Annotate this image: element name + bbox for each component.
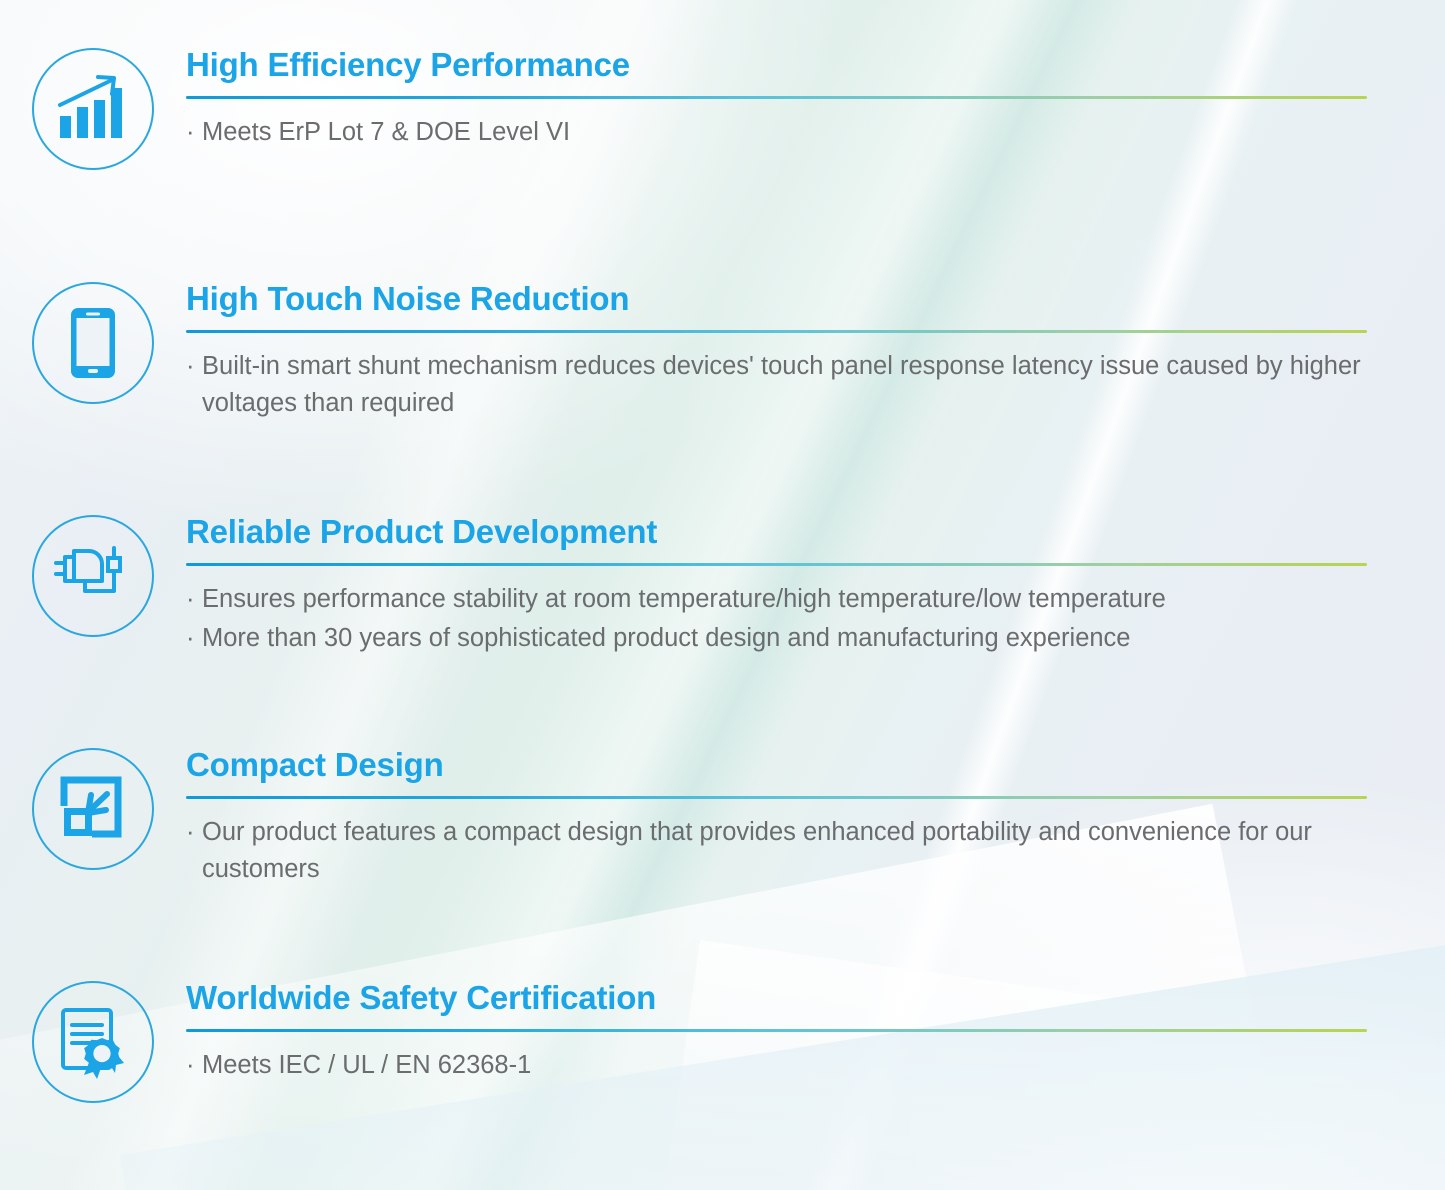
feature-item: High Efficiency Performance · Meets ErP … — [0, 46, 1445, 170]
bullet-text: Meets ErP Lot 7 & DOE Level VI — [202, 114, 1367, 151]
feature-divider — [186, 1029, 1367, 1032]
feature-title: High Touch Noise Reduction — [186, 280, 1367, 318]
power-adapter-icon — [32, 515, 154, 637]
feature-divider — [186, 563, 1367, 566]
feature-bullet: · Built-in smart shunt mechanism reduces… — [186, 348, 1367, 422]
bullet-marker: · — [186, 348, 202, 385]
feature-icon-wrap — [0, 979, 186, 1103]
bullet-marker: · — [186, 581, 202, 618]
feature-item: Reliable Product Development · Ensures p… — [0, 513, 1445, 657]
feature-bullet: · More than 30 years of sophisticated pr… — [186, 620, 1367, 657]
feature-title: Worldwide Safety Certification — [186, 979, 1367, 1017]
feature-text: High Efficiency Performance · Meets ErP … — [186, 46, 1445, 151]
bullet-marker: · — [186, 114, 202, 151]
feature-bullets: · Ensures performance stability at room … — [186, 581, 1367, 657]
feature-bullets: · Built-in smart shunt mechanism reduces… — [186, 348, 1367, 422]
feature-bullets: · Our product features a compact design … — [186, 814, 1367, 888]
feature-text: High Touch Noise Reduction · Built-in sm… — [186, 280, 1445, 422]
feature-icon-wrap — [0, 746, 186, 870]
smartphone-icon — [32, 282, 154, 404]
feature-bullet: · Meets IEC / UL / EN 62368-1 — [186, 1047, 1367, 1084]
feature-item: High Touch Noise Reduction · Built-in sm… — [0, 280, 1445, 422]
certificate-seal-icon — [32, 981, 154, 1103]
feature-divider — [186, 330, 1367, 333]
bullet-text: Ensures performance stability at room te… — [202, 581, 1367, 618]
feature-icon-wrap — [0, 280, 186, 404]
feature-bullet: · Meets ErP Lot 7 & DOE Level VI — [186, 114, 1367, 151]
feature-title: Compact Design — [186, 746, 1367, 784]
feature-icon-wrap — [0, 46, 186, 170]
bar-chart-growth-icon — [32, 48, 154, 170]
feature-bullet: · Our product features a compact design … — [186, 814, 1367, 888]
bullet-marker: · — [186, 814, 202, 851]
bullet-text: Meets IEC / UL / EN 62368-1 — [202, 1047, 1367, 1084]
feature-title: Reliable Product Development — [186, 513, 1367, 551]
feature-text: Reliable Product Development · Ensures p… — [186, 513, 1445, 657]
bullet-marker: · — [186, 620, 202, 657]
feature-bullets: · Meets ErP Lot 7 & DOE Level VI — [186, 114, 1367, 151]
feature-bullets: · Meets IEC / UL / EN 62368-1 — [186, 1047, 1367, 1084]
feature-bullet: · Ensures performance stability at room … — [186, 581, 1367, 618]
bullet-text: More than 30 years of sophisticated prod… — [202, 620, 1367, 657]
feature-text: Worldwide Safety Certification · Meets I… — [186, 979, 1445, 1084]
feature-divider — [186, 796, 1367, 799]
bullet-marker: · — [186, 1047, 202, 1084]
bullet-text: Our product features a compact design th… — [202, 814, 1367, 888]
compact-resize-icon — [32, 748, 154, 870]
feature-divider — [186, 96, 1367, 99]
feature-text: Compact Design · Our product features a … — [186, 746, 1445, 888]
feature-title: High Efficiency Performance — [186, 46, 1367, 84]
feature-icon-wrap — [0, 513, 186, 637]
feature-item: Compact Design · Our product features a … — [0, 746, 1445, 888]
feature-item: Worldwide Safety Certification · Meets I… — [0, 979, 1445, 1103]
bullet-text: Built-in smart shunt mechanism reduces d… — [202, 348, 1367, 422]
